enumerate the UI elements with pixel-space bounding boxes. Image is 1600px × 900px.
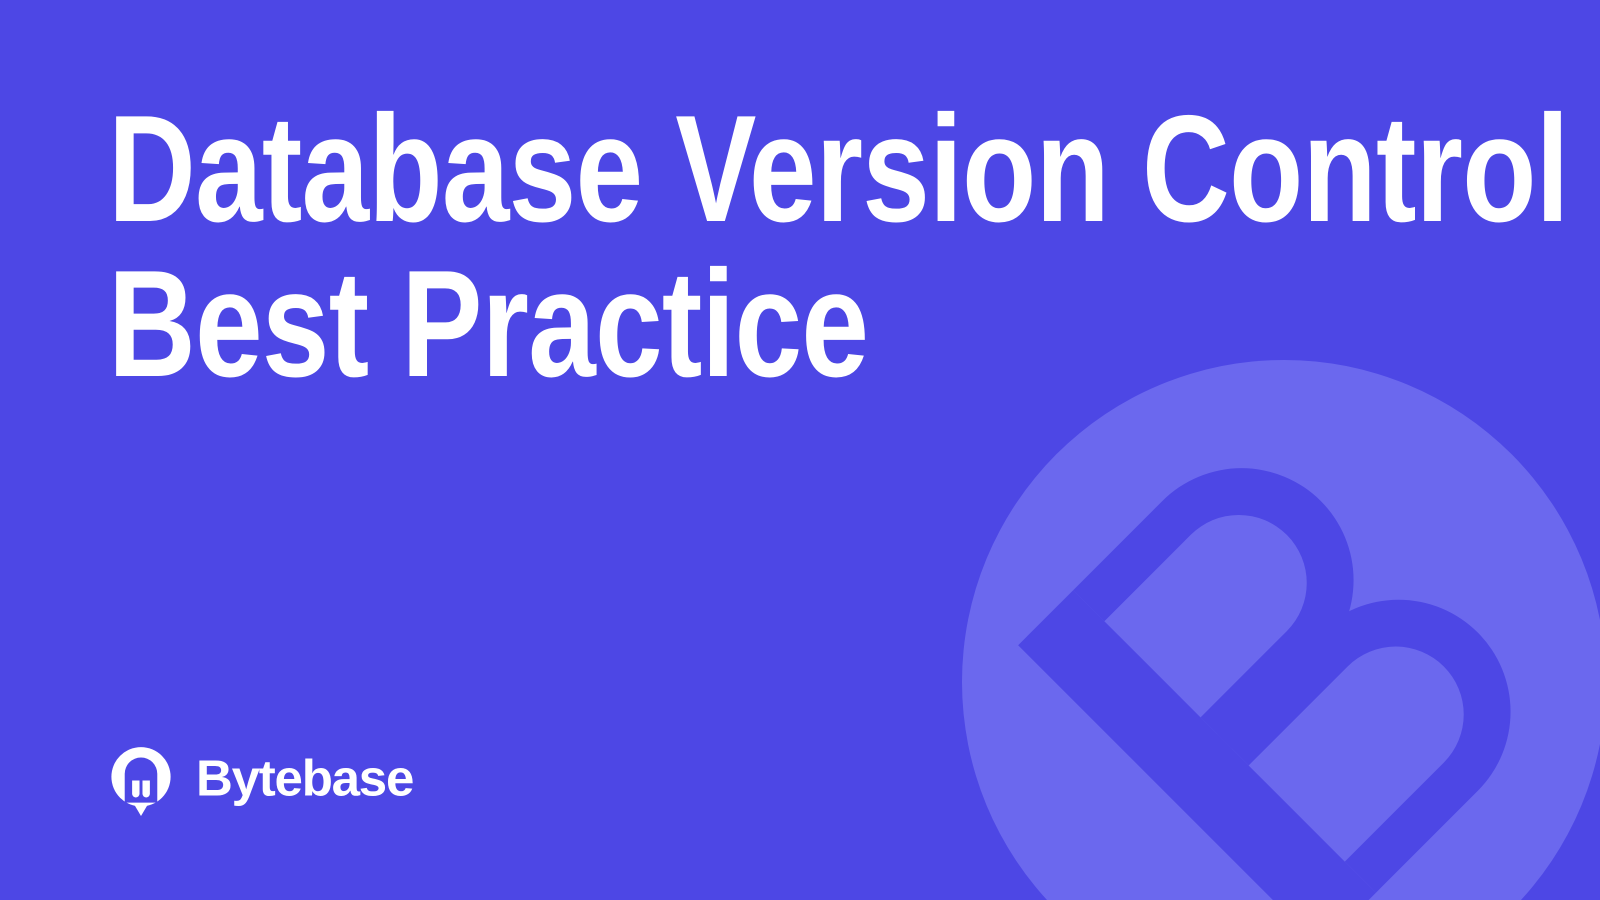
bytebase-b-circle-watermark-icon: [962, 360, 1600, 900]
social-share-banner: Database Version Control Best Practice: [0, 0, 1600, 900]
page-title-line-1: Database Version Control: [108, 92, 1228, 247]
brand-logo-lockup: Bytebase: [104, 742, 440, 816]
page-title: Database Version Control Best Practice: [108, 92, 1508, 402]
bytebase-robot-circle-icon: [104, 742, 178, 816]
bytebase-wordmark-text: Bytebase: [196, 751, 413, 806]
page-title-line-2: Best Practice: [108, 247, 1228, 402]
bytebase-wordmark: Bytebase: [196, 751, 440, 807]
